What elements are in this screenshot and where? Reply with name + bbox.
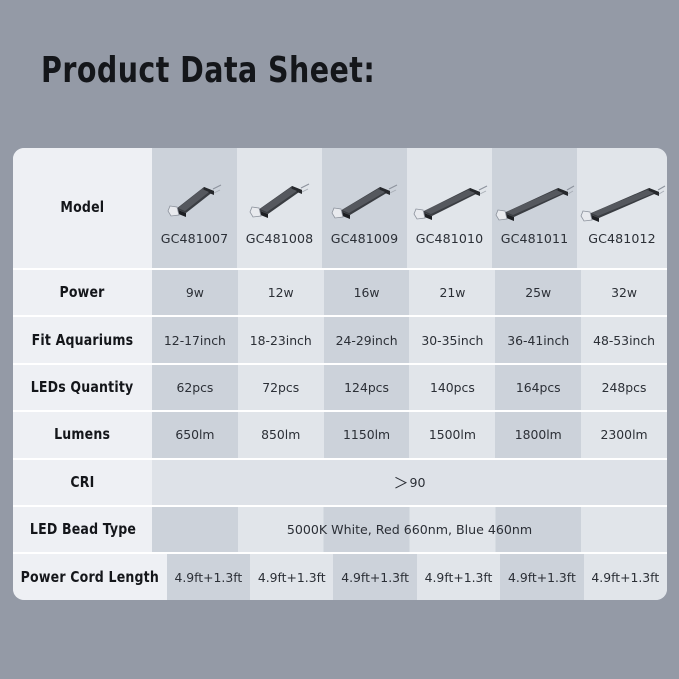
table-cell: 72pcs <box>238 365 324 410</box>
table-cell: 850lm <box>238 412 324 457</box>
cri-value: 90 <box>409 475 425 490</box>
table-cell: 36-41inch <box>495 317 581 362</box>
table-cell: 24-29inch <box>324 317 410 362</box>
led-light-bar-icon <box>577 170 667 228</box>
power-cells: 9w 12w 16w 21w 25w 32w <box>152 270 667 315</box>
led-light-bar-icon <box>152 170 237 228</box>
table-row-leds-quantity: LEDs Quantity 62pcs 72pcs 124pcs 140pcs … <box>13 363 667 410</box>
model-code: GC481008 <box>246 231 313 246</box>
greater-than-icon: ＞ <box>393 472 408 493</box>
row-label-power-cord-length: Power Cord Length <box>13 554 167 599</box>
table-cell: 1500lm <box>409 412 495 457</box>
model-code: GC481011 <box>501 231 568 246</box>
table-cell: 30-35inch <box>409 317 495 362</box>
model-cell-3: GC481009 <box>322 148 407 268</box>
table-cell: 650lm <box>152 412 238 457</box>
table-cell: 62pcs <box>152 365 238 410</box>
table-row-fit-aquariums: Fit Aquariums 12-17inch 18-23inch 24-29i… <box>13 315 667 362</box>
row-label-cri: CRI <box>13 460 152 505</box>
table-cell: 2300lm <box>581 412 667 457</box>
row-label-power: Power <box>13 270 152 315</box>
table-row-led-bead-type: LED Bead Type 5000K White, Red 660nm, Bl… <box>13 505 667 552</box>
row-label-leds-quantity: LEDs Quantity <box>13 365 152 410</box>
model-cell-2: GC481008 <box>237 148 322 268</box>
table-cell: 4.9ft+1.3ft <box>500 554 583 599</box>
model-cell-5: GC481011 <box>492 148 577 268</box>
table-cell: 12w <box>238 270 324 315</box>
model-code: GC481010 <box>416 231 483 246</box>
table-cell: 4.9ft+1.3ft <box>417 554 500 599</box>
table-cell: 124pcs <box>324 365 410 410</box>
power-cord-length-cells: 4.9ft+1.3ft 4.9ft+1.3ft 4.9ft+1.3ft 4.9f… <box>167 554 667 599</box>
table-cell: 164pcs <box>495 365 581 410</box>
table-cell: 48-53inch <box>581 317 667 362</box>
model-cell-1: GC481007 <box>152 148 237 268</box>
table-cell: 4.9ft+1.3ft <box>584 554 667 599</box>
row-label-lumens: Lumens <box>13 412 152 457</box>
led-light-bar-icon <box>322 170 407 228</box>
led-light-bar-icon <box>492 170 577 228</box>
table-cell: 1150lm <box>324 412 410 457</box>
table-row-lumens: Lumens 650lm 850lm 1150lm 1500lm 1800lm … <box>13 410 667 457</box>
table-row-power: Power 9w 12w 16w 21w 25w 32w <box>13 268 667 315</box>
row-label-fit-aquariums: Fit Aquariums <box>13 317 152 362</box>
fit-aquariums-cells: 12-17inch 18-23inch 24-29inch 30-35inch … <box>152 317 667 362</box>
led-light-bar-icon <box>407 170 492 228</box>
table-row-power-cord-length: Power Cord Length 4.9ft+1.3ft 4.9ft+1.3f… <box>13 552 667 599</box>
model-code: GC481009 <box>331 231 398 246</box>
model-cell-6: GC481012 <box>577 148 667 268</box>
table-cell: 9w <box>152 270 238 315</box>
model-cell-4: GC481010 <box>407 148 492 268</box>
table-cell: 248pcs <box>581 365 667 410</box>
model-cells: GC481007 GC481008 <box>152 148 667 268</box>
leds-quantity-cells: 62pcs 72pcs 124pcs 140pcs 164pcs 248pcs <box>152 365 667 410</box>
row-label-led-bead-type: LED Bead Type <box>13 507 152 552</box>
table-row-cri: CRI ＞90 <box>13 458 667 505</box>
lumens-cells: 650lm 850lm 1150lm 1500lm 1800lm 2300lm <box>152 412 667 457</box>
table-row-model: Model GC481007 <box>13 148 667 268</box>
cri-value-cell: ＞90 <box>152 460 667 505</box>
table-cell: 21w <box>409 270 495 315</box>
table-cell: 18-23inch <box>238 317 324 362</box>
led-bead-type-value-cell: 5000K White, Red 660nm, Blue 460nm <box>152 507 667 552</box>
page-title: Product Data Sheet: <box>41 50 375 91</box>
table-cell: 4.9ft+1.3ft <box>250 554 333 599</box>
table-cell: 4.9ft+1.3ft <box>333 554 416 599</box>
model-code: GC481007 <box>161 231 228 246</box>
row-label-model: Model <box>13 148 152 268</box>
led-light-bar-icon <box>237 170 322 228</box>
table-cell: 12-17inch <box>152 317 238 362</box>
product-data-table: Model GC481007 <box>13 148 667 600</box>
table-cell: 1800lm <box>495 412 581 457</box>
table-cell: 16w <box>324 270 410 315</box>
model-code: GC481012 <box>588 231 655 246</box>
table-cell: 4.9ft+1.3ft <box>167 554 250 599</box>
table-cell: 140pcs <box>409 365 495 410</box>
table-cell: 32w <box>581 270 667 315</box>
table-cell: 25w <box>495 270 581 315</box>
